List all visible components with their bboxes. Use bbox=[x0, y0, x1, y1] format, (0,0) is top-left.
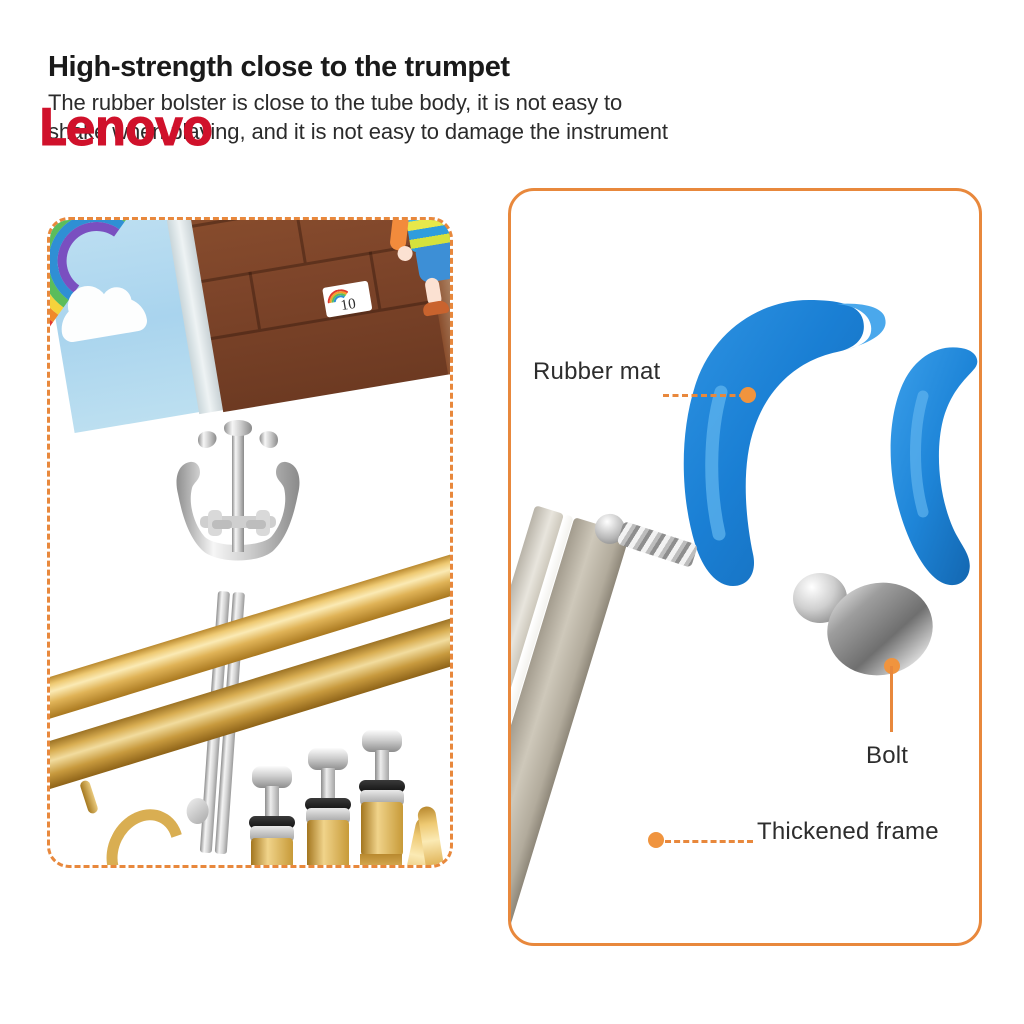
infographic-page: High-strength close to the trumpet The r… bbox=[0, 0, 1024, 1024]
cloud-icon bbox=[58, 294, 149, 344]
book-page-brick-wall: 10 bbox=[186, 220, 450, 412]
callout-leader-bolt bbox=[890, 666, 893, 732]
callout-leader-thickened-frame bbox=[665, 840, 753, 843]
trumpet-valve-slide-3 bbox=[360, 854, 402, 865]
callout-label-rubber-mat: Rubber mat bbox=[533, 358, 660, 386]
trumpet-hook bbox=[92, 796, 197, 865]
left-photo-stage: 10 bbox=[50, 220, 450, 865]
lenovo-watermark-logo: Lenovo bbox=[38, 102, 211, 154]
music-book: 10 bbox=[50, 220, 450, 441]
left-photo-panel: 10 bbox=[47, 217, 453, 868]
blue-rubber-mat bbox=[661, 286, 979, 616]
callout-dot-rubber-mat bbox=[740, 387, 756, 403]
callout-leader-rubber-mat bbox=[663, 394, 745, 397]
thickened-metal-frame bbox=[511, 505, 639, 943]
lyre-clip bbox=[172, 420, 304, 610]
callout-label-bolt: Bolt bbox=[866, 742, 908, 770]
callout-dot-thickened-frame bbox=[648, 832, 664, 848]
page-title: High-strength close to the trumpet bbox=[48, 52, 948, 82]
callout-label-thickened-frame: Thickened frame bbox=[757, 818, 939, 846]
water-key bbox=[79, 779, 99, 814]
cartoon-boy-illustration bbox=[379, 220, 450, 321]
